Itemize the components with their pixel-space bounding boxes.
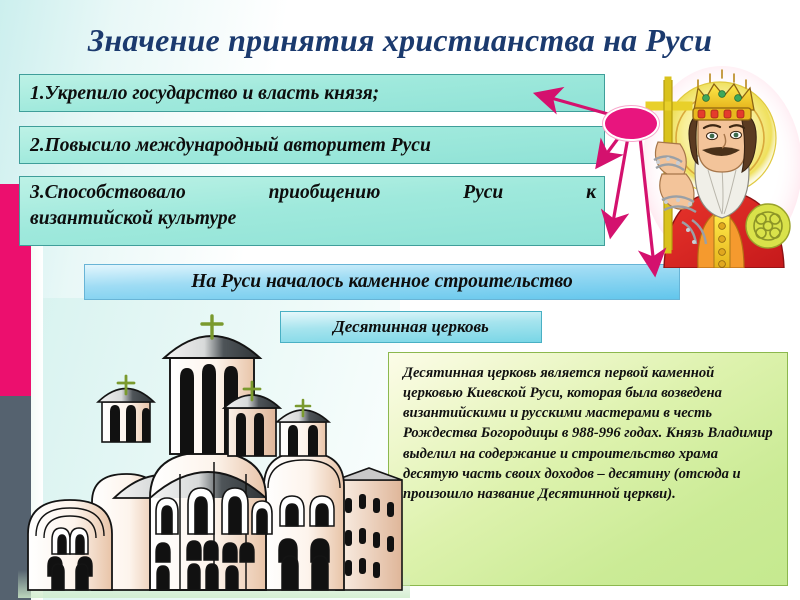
pink-ellipse-hub	[603, 106, 659, 141]
arrow-overlay	[0, 0, 800, 600]
arrow-to-point-3	[612, 137, 628, 228]
arrow-to-point-1	[544, 96, 608, 114]
arrow-to-stone-box	[640, 137, 654, 266]
slide-canvas: Значение принятия христианства на Руси	[0, 0, 800, 600]
